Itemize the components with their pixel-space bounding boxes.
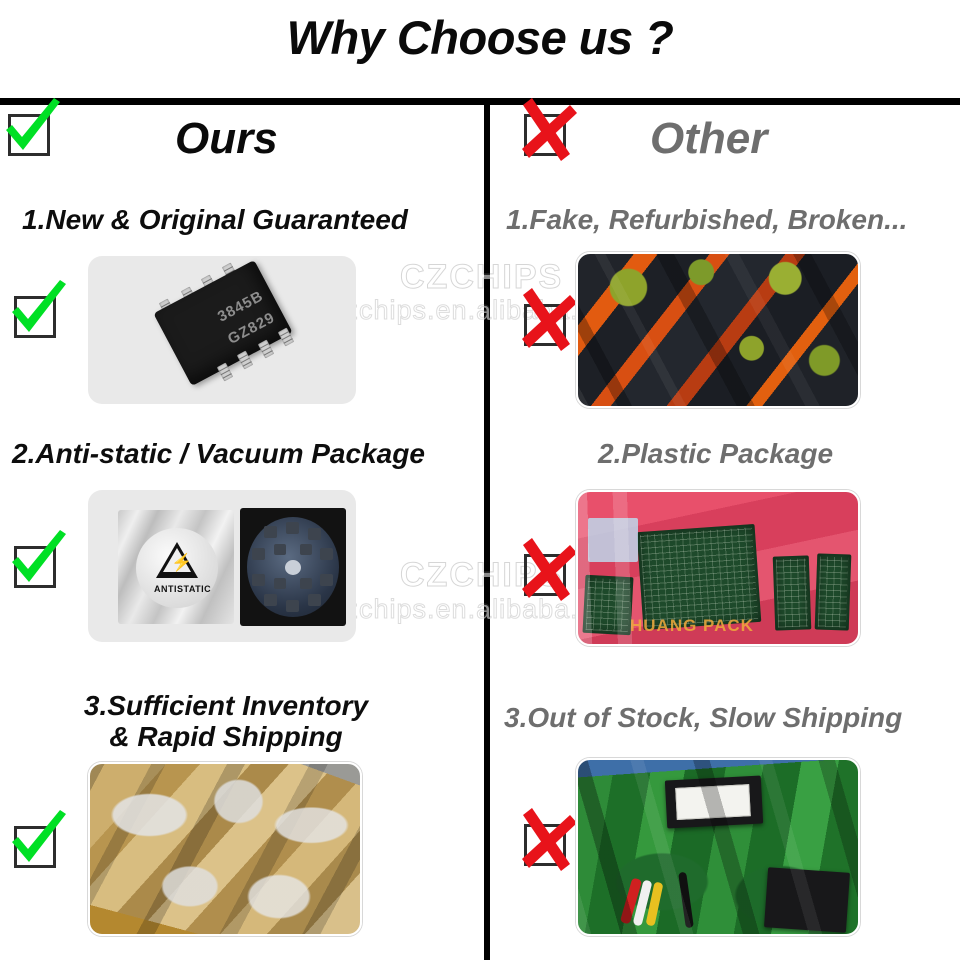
lightning-bolt-icon: ⚡ — [171, 554, 192, 571]
pcb-board — [815, 553, 852, 630]
header-check-mark — [2, 106, 58, 162]
yellow-cable — [646, 882, 664, 927]
row-3-ours-heading: 3.Sufficient Inventory & Rapid Shipping — [56, 690, 396, 753]
row-2-cross-mark — [518, 546, 574, 602]
pcb-board — [583, 575, 634, 635]
row-1-other-image — [576, 252, 860, 408]
row-1-other-heading: 1.Fake, Refurbished, Broken... — [506, 204, 907, 235]
reel-tray — [240, 508, 346, 626]
check-mark-icon — [2, 278, 74, 350]
row-1-ours-image: 3845B GZ829 — [88, 256, 356, 404]
check-mark-icon — [2, 808, 74, 880]
row-2-ours-heading: 2.Anti-static / Vacuum Package — [12, 438, 425, 469]
column-header-ours: Ours — [175, 108, 278, 170]
antistatic-label: ANTISTATIC — [154, 584, 211, 594]
check-mark-icon — [2, 528, 74, 600]
antistatic-disc: ⚡ ANTISTATIC — [136, 528, 218, 608]
row-3-other-heading: 3.Out of Stock, Slow Shipping — [504, 702, 902, 733]
row-3-other-image — [576, 758, 860, 936]
row-1-ours-heading: 1.New & Original Guaranteed — [22, 204, 408, 235]
module-label — [675, 784, 751, 820]
row-3-ours-image — [88, 762, 362, 936]
clear-bag — [588, 518, 638, 562]
black-module — [764, 867, 850, 933]
cross-mark-icon — [512, 536, 584, 608]
pcb-board — [773, 555, 812, 630]
reel-hub — [285, 560, 301, 575]
row-3-ours-heading-line-1: 3.Sufficient Inventory — [84, 690, 368, 721]
header-cross-mark — [518, 106, 574, 162]
row-2-ours-image: ⚡ ANTISTATIC — [88, 490, 356, 642]
cross-mark-icon — [512, 286, 584, 358]
row-1-cross-mark — [518, 296, 574, 352]
plastic-bag-overlay-text: HUANG PACK — [630, 616, 754, 636]
header-divider — [0, 98, 960, 105]
infographic-page: Why Choose us ? Ours Other CZCHIPS czchi… — [0, 0, 960, 960]
page-title: Why Choose us ? — [0, 10, 960, 65]
column-header-other: Other — [650, 108, 767, 170]
cross-mark-icon — [512, 96, 584, 168]
row-2-other-heading: 2.Plastic Package — [598, 438, 833, 469]
chip-pin — [217, 363, 233, 382]
white-cable — [633, 880, 653, 927]
black-cable — [678, 872, 694, 929]
red-cable — [620, 878, 642, 925]
row-3-ours-heading-line-2: & Rapid Shipping — [109, 721, 342, 752]
check-mark-icon — [0, 96, 68, 168]
row-2-other-image: HUANG PACK — [576, 490, 860, 646]
chip-pin — [278, 328, 294, 347]
row-2-check-mark — [8, 538, 64, 594]
column-divider — [484, 105, 490, 960]
row-1-check-mark — [8, 288, 64, 344]
cross-mark-icon — [512, 806, 584, 878]
row-3-cross-mark — [518, 816, 574, 872]
pcb-board — [637, 524, 762, 630]
black-module — [665, 776, 763, 829]
row-3-check-mark — [8, 818, 64, 874]
